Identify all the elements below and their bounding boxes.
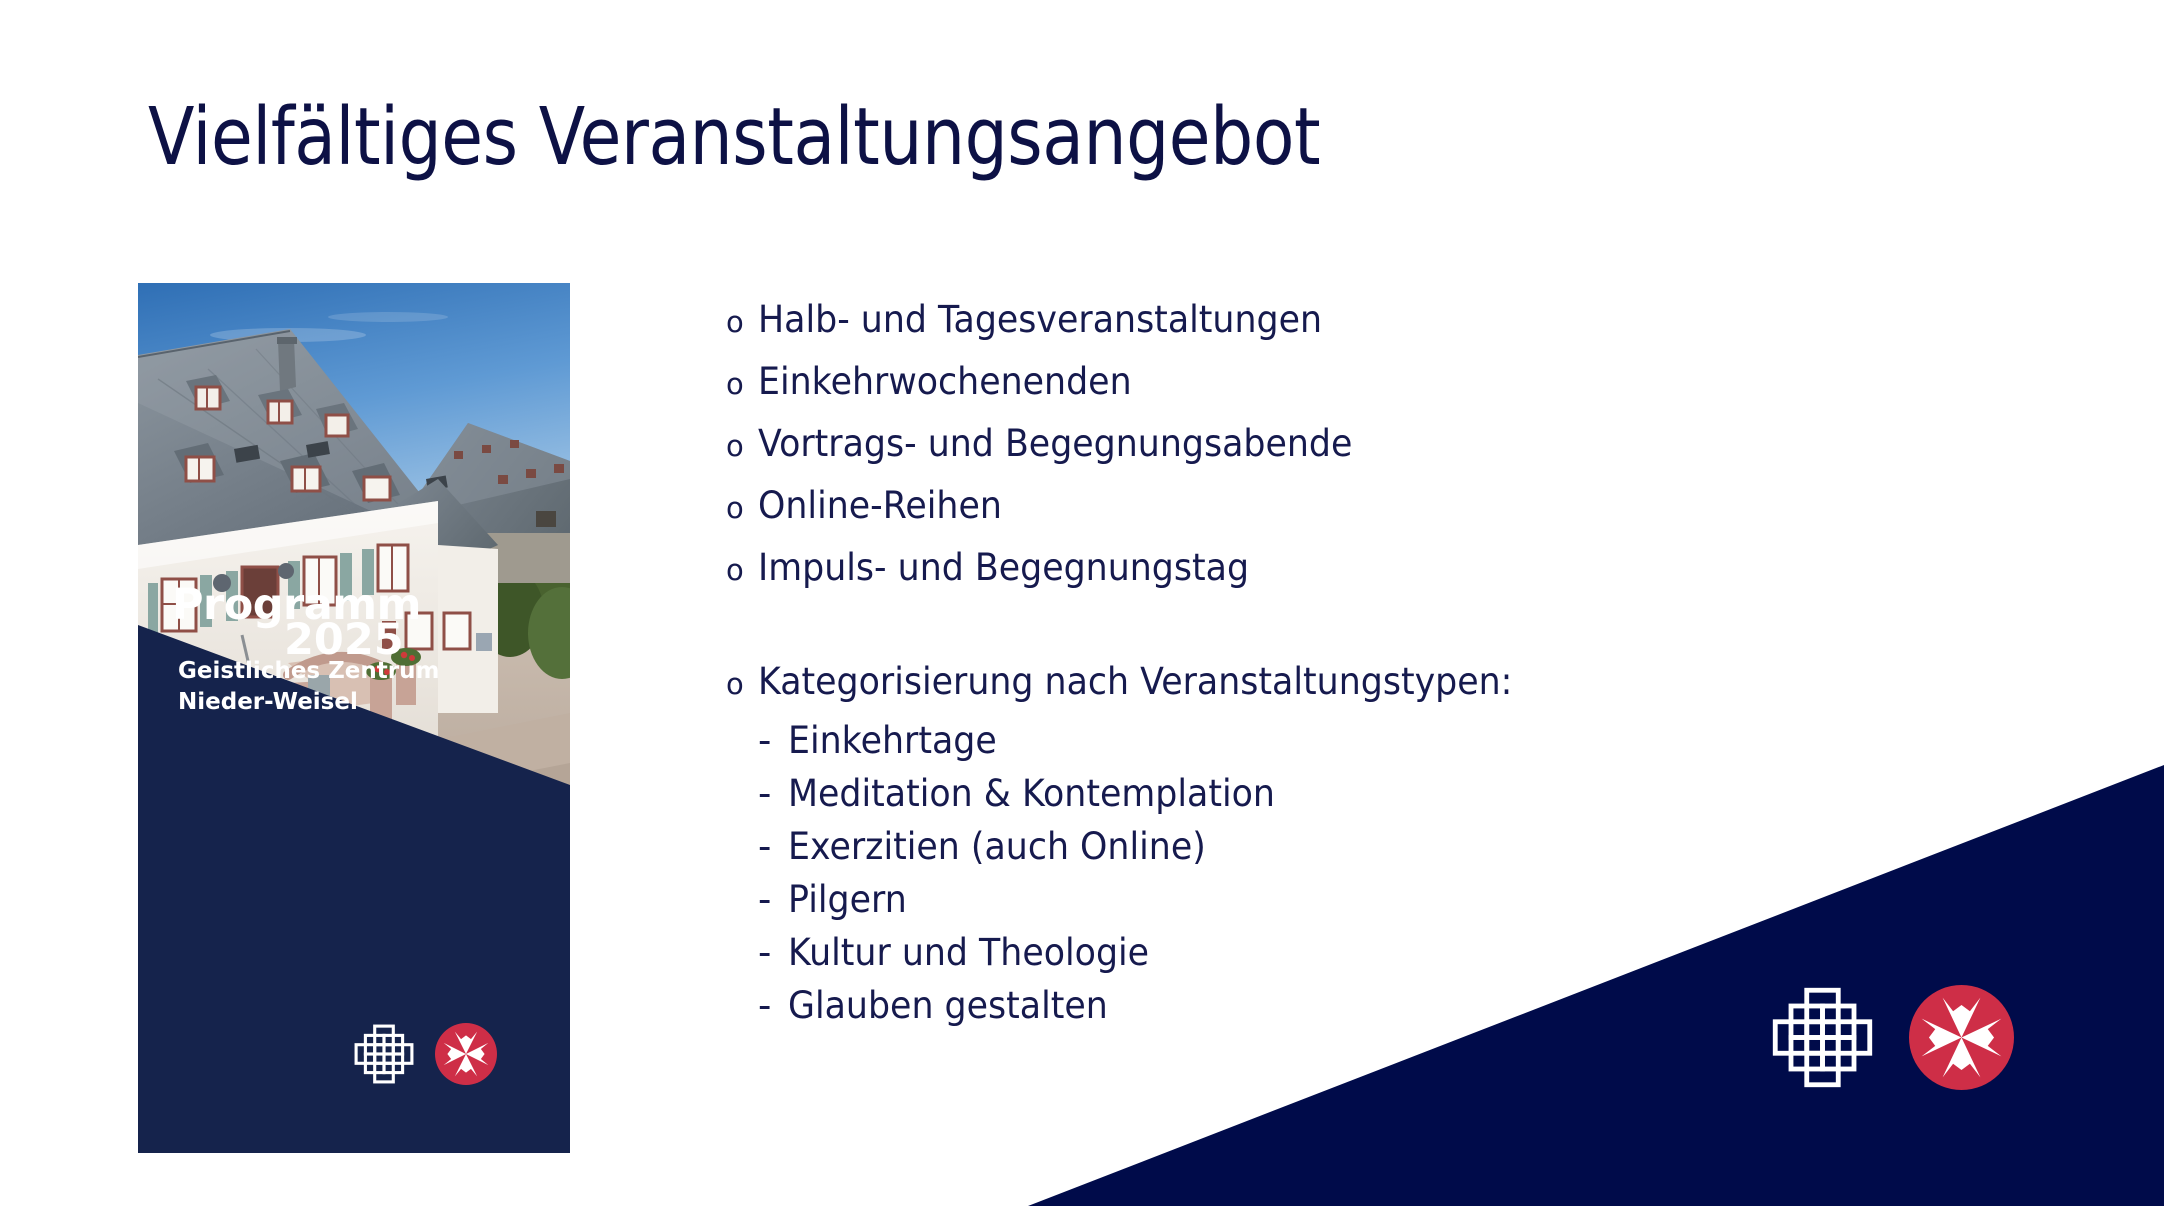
dash-marker-icon: -	[758, 926, 788, 979]
sub-list-item: - Pilgern	[726, 873, 1926, 926]
dash-marker-icon: -	[758, 979, 788, 1032]
brochure-org-line-1: Geistliches Zentrum	[178, 658, 439, 684]
sub-list-item-label: Glauben gestalten	[788, 979, 1108, 1032]
bullet-marker-icon: o	[726, 478, 758, 538]
sub-list-item: - Exerzitien (auch Online)	[726, 820, 1926, 873]
list-item-label: Einkehrwochenenden	[758, 352, 1132, 412]
list-item: o Halb- und Tagesveranstaltungen	[726, 290, 1926, 352]
interlocking-squares-cross-logo	[353, 1023, 415, 1089]
bullet-marker-icon: o	[726, 654, 758, 714]
dash-marker-icon: -	[758, 767, 788, 820]
bullet-marker-icon: o	[726, 540, 758, 600]
bullet-marker-icon: o	[726, 416, 758, 476]
maltese-cross-logo	[435, 1023, 497, 1089]
maltese-cross-logo	[1909, 985, 2014, 1094]
brochure-logo-group	[353, 1023, 497, 1089]
page-title: Vielfältiges Veranstaltungsangebot	[148, 96, 1782, 179]
dash-marker-icon: -	[758, 820, 788, 873]
list-item: o Impuls- und Begegnungstag	[726, 538, 1926, 600]
sub-list-item-label: Exerzitien (auch Online)	[788, 820, 1206, 873]
dash-marker-icon: -	[758, 714, 788, 767]
dash-marker-icon: -	[758, 873, 788, 926]
sub-list-item-label: Kultur und Theologie	[788, 926, 1149, 979]
list-item-label: Kategorisierung nach Veranstaltungstypen…	[758, 652, 1512, 712]
list-item-label: Halb- und Tagesveranstaltungen	[758, 290, 1322, 350]
sub-list-item: - Meditation & Kontemplation	[726, 767, 1926, 820]
list-item-label: Vortrags- und Begegnungsabende	[758, 414, 1352, 474]
list-item: o Einkehrwochenenden	[726, 352, 1926, 414]
interlocking-squares-cross-logo	[1770, 985, 1875, 1094]
list-item: o Online-Reihen	[726, 476, 1926, 538]
sub-list-item: - Kultur und Theologie	[726, 926, 1926, 979]
bullet-marker-icon: o	[726, 292, 758, 352]
brochure-cover: Programm 2025 Geistliches Zentrum Nieder…	[138, 283, 570, 1153]
sub-list-item-label: Pilgern	[788, 873, 907, 926]
footer-logo-group	[1770, 985, 2014, 1094]
sub-list-item: - Glauben gestalten	[726, 979, 1926, 1032]
sub-list-item-label: Einkehrtage	[788, 714, 997, 767]
list-item-label: Online-Reihen	[758, 476, 1002, 536]
list-item: o Vortrags- und Begegnungsabende	[726, 414, 1926, 476]
bullet-marker-icon: o	[726, 354, 758, 414]
sub-list-item-label: Meditation & Kontemplation	[788, 767, 1275, 820]
sub-list-item: - Einkehrtage	[726, 714, 1926, 767]
brochure-org-line-2: Nieder-Weisel	[178, 689, 358, 715]
event-offer-list: o Halb- und Tagesveranstaltungen o Einke…	[726, 290, 1926, 1032]
list-item-label: Impuls- und Begegnungstag	[758, 538, 1249, 598]
list-item-categorisation: o Kategorisierung nach Veranstaltungstyp…	[726, 652, 1926, 714]
list-spacer	[726, 600, 1926, 652]
